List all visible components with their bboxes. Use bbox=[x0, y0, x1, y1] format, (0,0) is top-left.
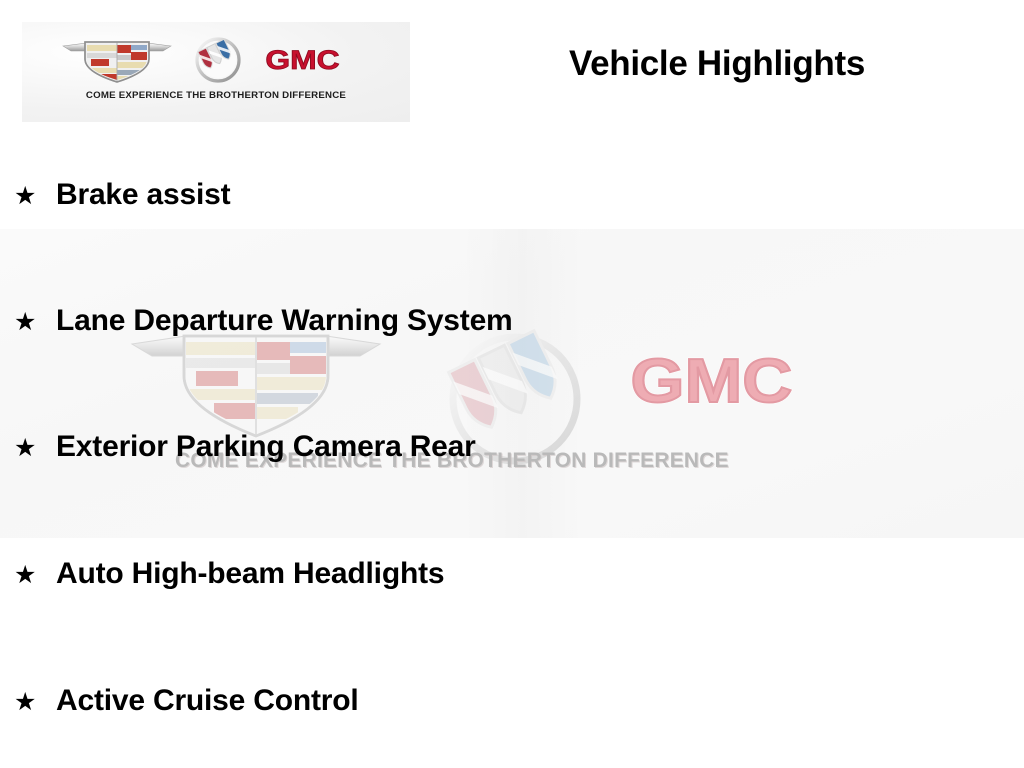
dealer-logo-tagline: COME EXPERIENCE THE BROTHERTON DIFFERENC… bbox=[22, 90, 410, 101]
list-item-label: Active Cruise Control bbox=[56, 684, 359, 718]
dealer-logo-box: GMC COME EXPERIENCE THE BROTHERTON DIFFE… bbox=[22, 22, 410, 122]
list-item-label: Brake assist bbox=[56, 178, 230, 212]
list-item[interactable]: ★ Auto High-beam Headlights bbox=[14, 557, 444, 591]
list-item-label: Exterior Parking Camera Rear bbox=[56, 430, 476, 464]
star-bullet-icon: ★ bbox=[14, 184, 56, 209]
list-item-label: Lane Departure Warning System bbox=[56, 304, 513, 338]
list-item[interactable]: ★ Exterior Parking Camera Rear bbox=[14, 430, 476, 464]
list-item[interactable]: ★ Lane Departure Warning System bbox=[14, 304, 513, 338]
star-bullet-icon: ★ bbox=[14, 563, 56, 588]
gmc-wordmark-icon: GMC bbox=[263, 43, 371, 77]
watermark-gmc-letters-outline: GMC bbox=[630, 345, 792, 415]
watermark-band: GMC GMC bbox=[0, 229, 1024, 538]
page-title: Vehicle Highlights bbox=[430, 44, 1004, 84]
star-bullet-icon: ★ bbox=[14, 310, 56, 335]
list-item[interactable]: ★ Active Cruise Control bbox=[14, 684, 359, 718]
watermark-gmc-wordmark-icon: GMC GMC bbox=[626, 342, 896, 427]
star-bullet-icon: ★ bbox=[14, 436, 56, 461]
gmc-letters: GMC bbox=[265, 45, 339, 75]
list-item[interactable]: ★ Brake assist bbox=[14, 178, 230, 212]
header: GMC COME EXPERIENCE THE BROTHERTON DIFFE… bbox=[0, 0, 1024, 130]
buick-trishield-icon bbox=[195, 37, 241, 83]
dealer-logo-brand-row: GMC bbox=[22, 34, 410, 86]
list-item-label: Auto High-beam Headlights bbox=[56, 557, 444, 591]
star-bullet-icon: ★ bbox=[14, 690, 56, 715]
cadillac-crest-icon bbox=[61, 37, 173, 83]
